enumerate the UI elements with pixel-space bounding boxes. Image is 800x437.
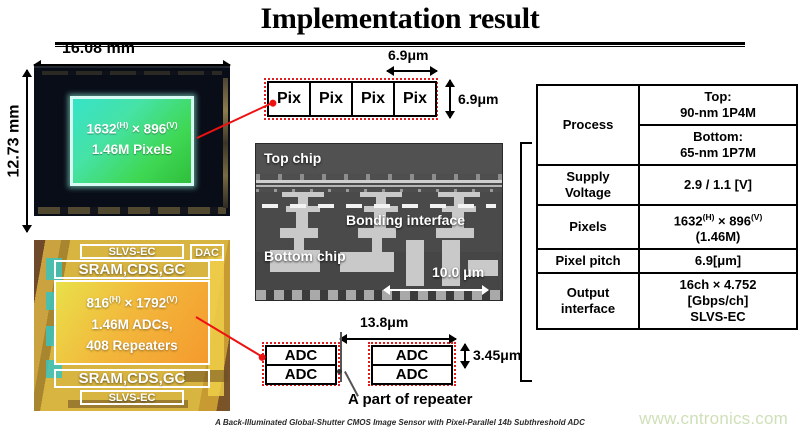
spec-value-supply: 2.9 / 1.1 [V] [639,165,797,205]
tem-via-pad [358,228,396,238]
output-key-line2: interface [540,301,636,317]
pixel-row-group: Pix Pix Pix Pix [264,78,438,120]
cross-section-image: Top chip Bonding interface Bottom chip 1… [255,143,503,301]
pixel-total-label: 1.46M Pixels [73,140,191,160]
tem-bottom-chip-label: Bottom chip [264,248,346,264]
spec-key-process: Process [537,85,639,165]
supply-key-line1: Supply [540,169,636,185]
table-row: Pixel pitch 6.9[μm] [537,249,797,273]
adc-count-v-sup: (V) [166,294,177,304]
adc-total-label: 1.46M ADCs, [56,314,208,335]
bottom-chip-slvs-bottom: SLVS-EC [80,390,184,405]
top-chip-photo: 1632(H) × 896(V) 1.46M Pixels [34,66,230,216]
spec-key-supply: Supply Voltage [537,165,639,205]
process-top-line1: Top: [642,89,794,105]
process-bottom-line1: Bottom: [642,129,794,145]
table-row: Supply Voltage 2.9 / 1.1 [V] [537,165,797,205]
pixel-count-sep: × 896 [128,122,166,137]
adc-cell: ADC [265,345,337,366]
tem-via [372,238,382,252]
adc-cell: ADC [265,364,337,385]
spec-table: Process Top: 90-nm 1P4M Bottom: 65-nm 1P… [536,84,798,330]
spec-pixels-h: 1632 [674,213,703,228]
bottom-chip-dac: DAC [190,244,224,261]
top-chip-pads-top [42,71,222,75]
spec-value-pixels: 1632(H) × 896(V) (1.46M) [639,205,797,249]
output-key-line1: Output [540,285,636,301]
spec-key-output: Output interface [537,273,639,329]
adc-cell: ADC [371,345,453,366]
pixel-pitch-v-label: 6.9μm [458,91,498,107]
output-value-line2: [Gbps/ch] [642,293,794,309]
adc-height-arrow [464,344,466,368]
tem-via-pad [280,228,318,238]
tem-block [340,252,394,272]
tem-band-line [256,185,502,187]
adc-width-label: 13.8μm [360,314,408,330]
tem-bonding-label: Bonding interface [346,212,465,228]
table-row: Process Top: 90-nm 1P4M [537,85,797,125]
repeater-total-label: 408 Repeaters [56,335,208,356]
pixel-count-h: 1632 [86,122,116,137]
title-divider [55,42,745,45]
bonding-interface-dashline [262,204,496,208]
spec-key-pixels: Pixels [537,205,639,249]
tem-scale-arrow [384,289,488,291]
spec-value-pitch: 6.9[μm] [639,249,797,273]
bottom-chip-photo: SLVS-EC DAC SRAM,CDS,GC 816(H) × 1792(V)… [34,240,230,411]
bottom-chip-slvs-top: SLVS-EC [80,244,184,259]
output-value-line1: 16ch × 4.752 [642,277,794,293]
tem-via [296,212,308,228]
repeater-caption: A part of repeater [348,391,472,408]
output-value-line3: SLVS-EC [642,309,794,325]
table-row: Pixels 1632(H) × 896(V) (1.46M) [537,205,797,249]
table-row: Output interface 16ch × 4.752 [Gbps/ch] … [537,273,797,329]
adc-count-h: 816 [86,296,109,311]
pixel-count-h-sup: (H) [116,120,128,130]
spec-pixels-total: (1.46M) [642,229,794,245]
bottom-chip-sram-bottom: SRAM,CDS,GC [54,369,210,388]
chip-height-label: 12.73 mm [5,105,23,178]
adc-height-label: 3.45μm [473,347,521,363]
spec-value-output: 16ch × 4.752 [Gbps/ch] SLVS-EC [639,273,797,329]
spec-pixels-v-sup: (V) [751,212,762,222]
spec-pixels-h-sup: (H) [703,212,715,222]
tem-pillar [406,240,424,286]
pixel-array-overlay-text: 1632(H) × 896(V) 1.46M Pixels [73,115,191,160]
spec-value-process-bottom: Bottom: 65-nm 1P7M [639,125,797,165]
adc-count-sep: × 1792 [121,296,166,311]
page-title: Implementation result [0,2,800,36]
top-chip-pads-bottom [38,207,226,214]
spec-pixels-sep: × 896 [714,213,751,228]
process-top-line2: 90-nm 1P4M [642,105,794,121]
repeater-leader-dot [337,369,342,374]
pixel-pitch-v-arrow [449,80,451,118]
pixel-cell: Pix [351,81,395,117]
adc-cell: ADC [371,364,453,385]
tem-scale-label: 10.0 μm [432,264,484,280]
repeater-leader-vertical [340,332,342,382]
section-bracket [520,142,532,382]
top-chip-edge [223,78,228,208]
tem-band-substrate [256,290,502,301]
tem-via-pad [436,228,474,238]
chip-height-arrow [26,70,28,232]
pixel-pitch-h-arrow [387,70,437,72]
supply-key-line2: Voltage [540,185,636,201]
adc-array-overlay: 816(H) × 1792(V) 1.46M ADCs, 408 Repeate… [54,280,210,365]
adc-width-arrow [340,338,456,340]
spec-key-process-label: Process [563,117,614,132]
tem-top-chip-label: Top chip [264,150,321,166]
process-bottom-line2: 65-nm 1P7M [642,145,794,161]
adc-count-h-sup: (H) [109,294,121,304]
chip-width-label: 16.08 mm [62,40,135,58]
pixel-cell: Pix [393,81,437,117]
spec-key-pitch: Pixel pitch [537,249,639,273]
tem-band-line [256,180,502,183]
adc-group-right: ADC ADC [368,342,456,386]
pixel-array-overlay: 1632(H) × 896(V) 1.46M Pixels [70,96,194,186]
pixel-count-v-sup: (V) [166,120,177,130]
watermark: www.cntronics.com [639,409,788,429]
pixel-cell: Pix [309,81,353,117]
spec-value-process-top: Top: 90-nm 1P4M [639,85,797,125]
adc-group-left: ADC ADC [262,342,340,386]
pixel-pitch-h-label: 6.9μm [388,47,428,63]
bottom-chip-sram-top: SRAM,CDS,GC [54,260,210,279]
